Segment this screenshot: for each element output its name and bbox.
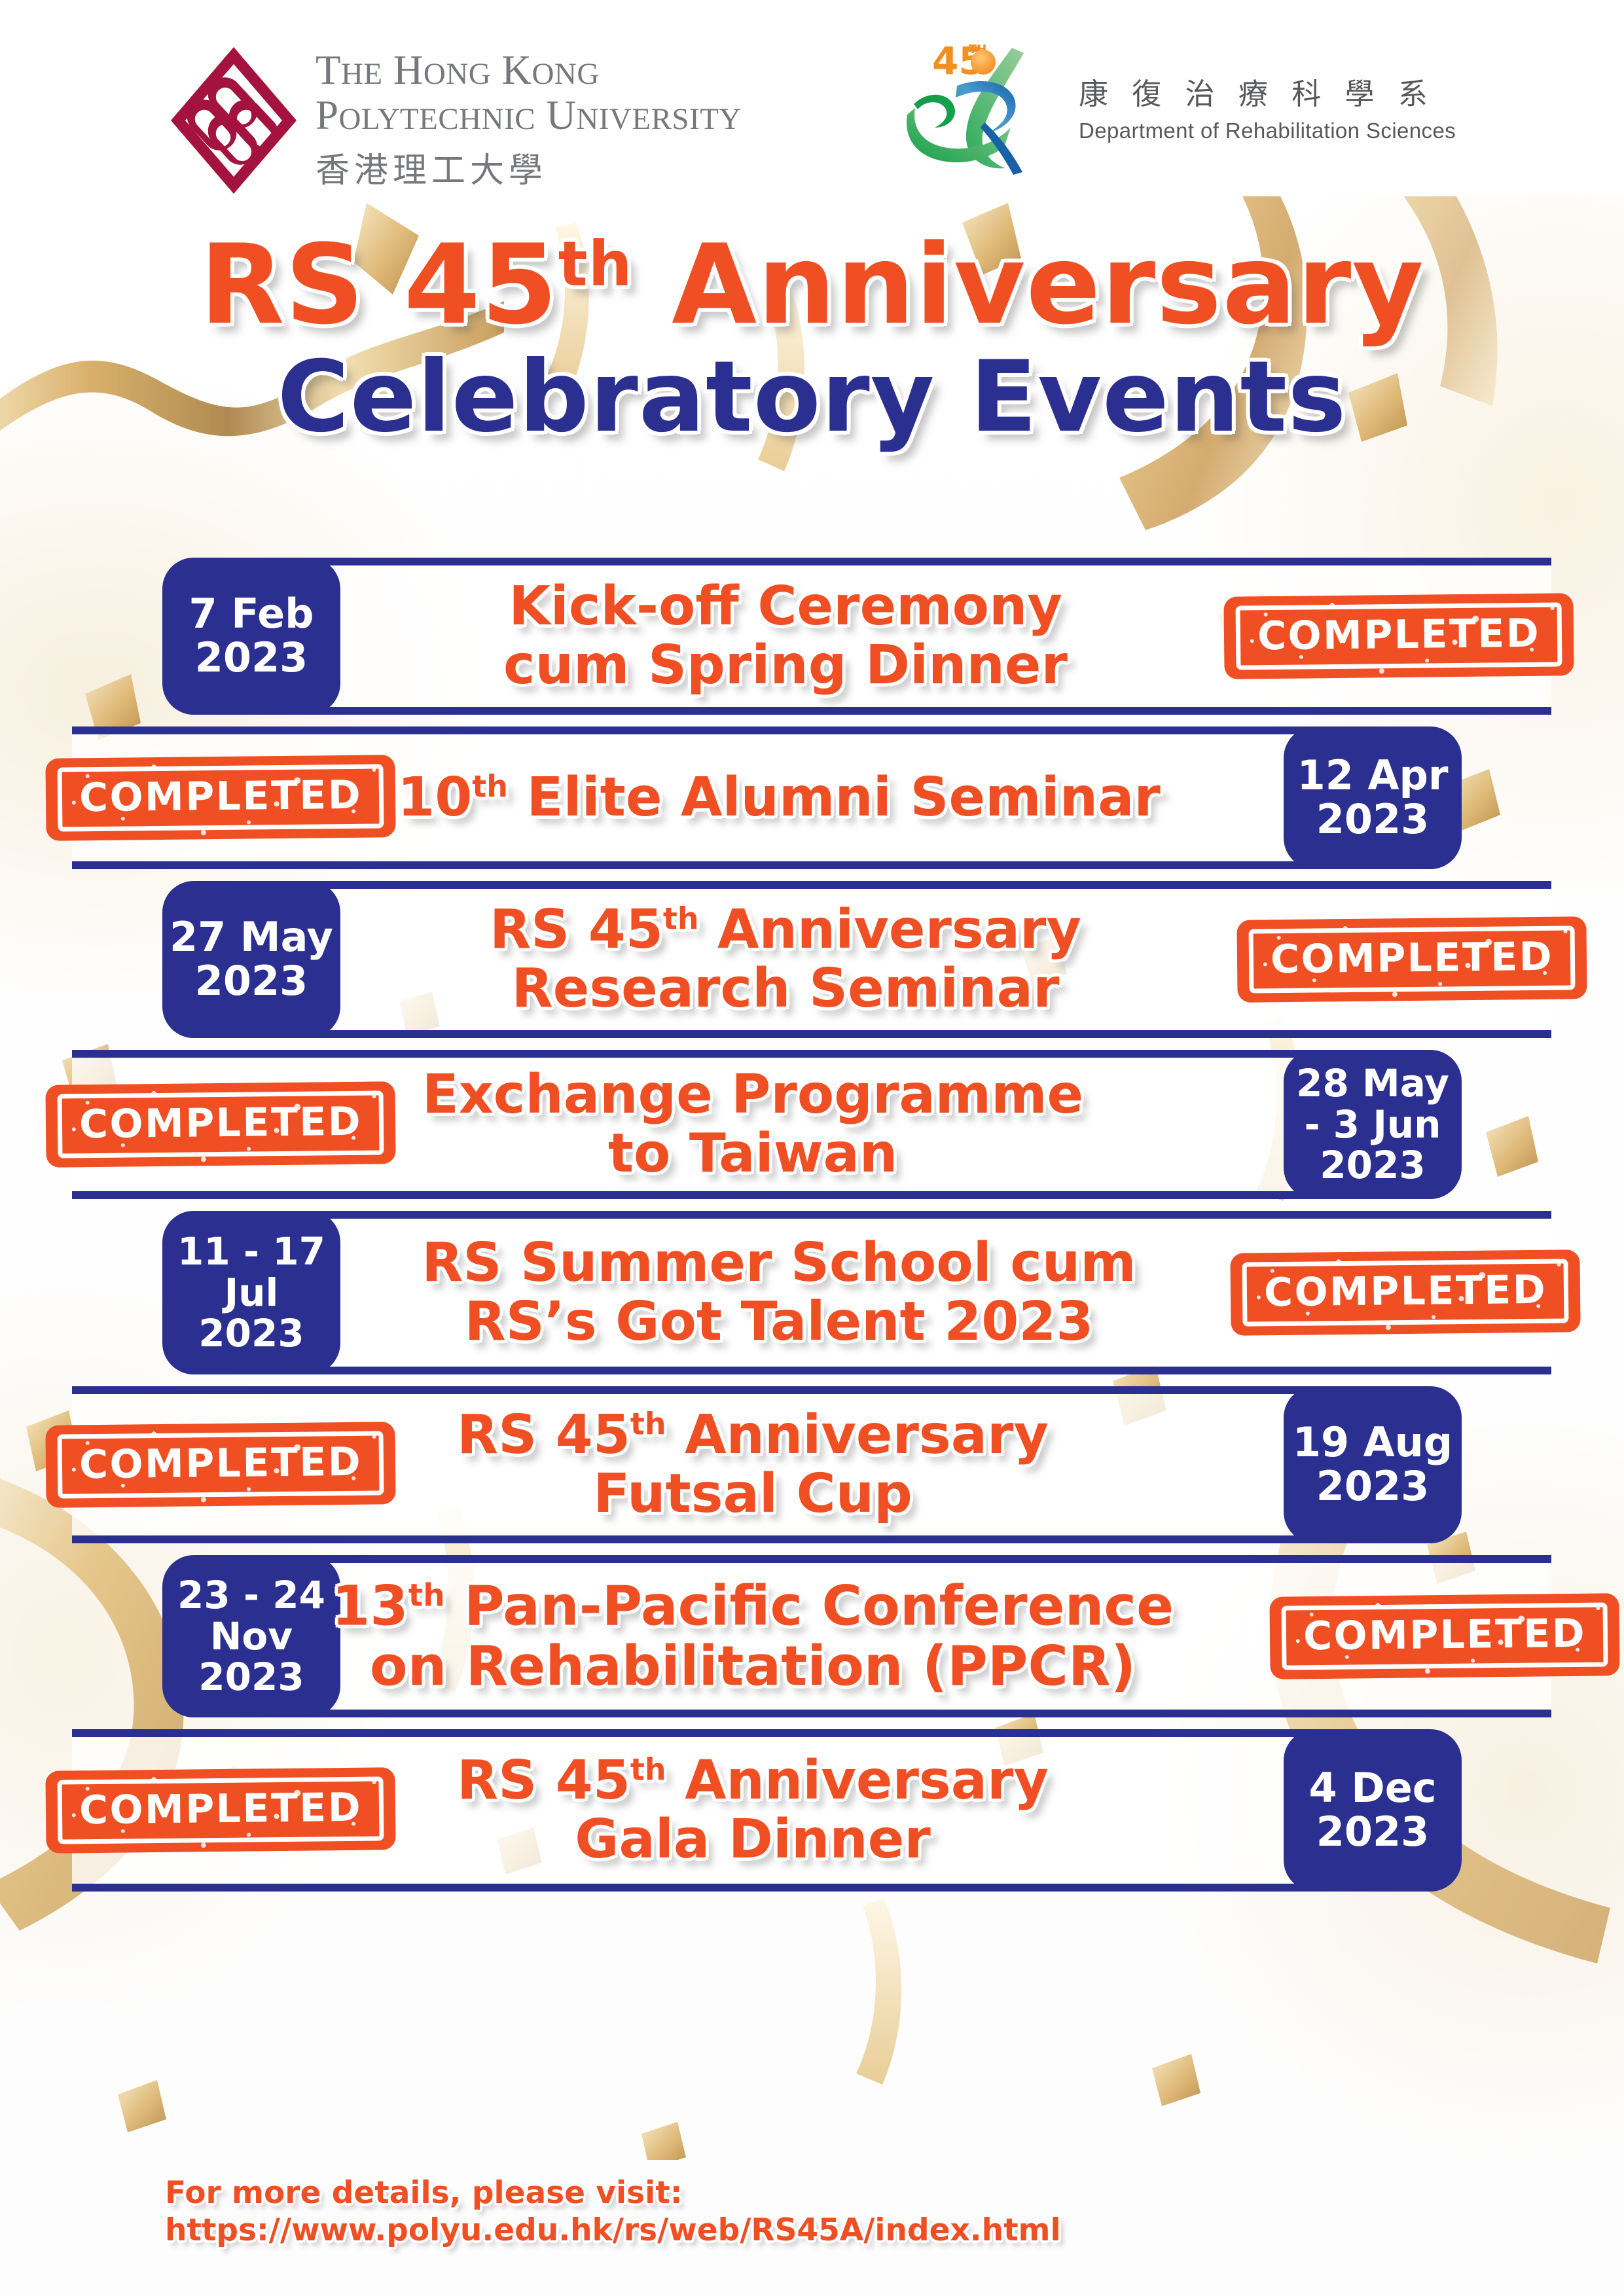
status-badge-completed: COMPLETED	[45, 1081, 395, 1168]
status-label: COMPLETED	[1257, 614, 1541, 656]
event-date-line: 4 Dec	[1309, 1767, 1437, 1810]
event-title-line: RS 45th Anniversary	[327, 1751, 1178, 1810]
title-text: Pan-Pacific Conference	[445, 1574, 1174, 1638]
ordinal-superscript: th	[630, 1751, 666, 1787]
status-badge-completed: COMPLETED	[45, 1422, 395, 1508]
stamp-border: COMPLETED	[1242, 1259, 1569, 1326]
event-date-line: 27 May	[170, 916, 333, 960]
event-date-line: 2023	[1316, 798, 1430, 842]
status-badge-completed: COMPLETED	[1230, 1249, 1580, 1336]
event-title: RS 45th AnniversaryResearch Seminar	[367, 901, 1204, 1018]
timeline-event-row: 28 May- 3 Jun2023Exchange Programmeto Ta…	[0, 1050, 1624, 1199]
header-bar: THE HONG KONG POLYTECHNIC UNIVERSITY 香港理…	[0, 0, 1624, 196]
event-date-badge: 4 Dec2023	[1284, 1729, 1462, 1892]
event-title: Kick-off Ceremonycum Spring Dinner	[367, 577, 1204, 695]
event-date-badge: 28 May- 3 Jun2023	[1284, 1050, 1462, 1199]
event-title-line: RS’s Got Talent 2023	[367, 1293, 1191, 1352]
title-text: Research Seminar	[512, 958, 1060, 1020]
department-name: 康 復 治 療 科 學 系 Department of Rehabilitati…	[1079, 70, 1456, 143]
rs-45th-emblem-icon: 45 TH	[889, 36, 1067, 177]
title-text: RS Summer School cum	[422, 1232, 1136, 1294]
title-text: RS 45	[490, 899, 663, 961]
status-label: COMPLETED	[79, 1788, 363, 1831]
polyu-name-line1: THE HONG KONG	[316, 50, 742, 91]
title-text: Elite Alumni Seminar	[508, 766, 1161, 829]
stamp-border: COMPLETED	[58, 1431, 384, 1498]
event-date-line: 2023	[195, 636, 308, 680]
event-date-line: - 3 Jun	[1305, 1104, 1441, 1145]
polyu-name-line2: POLYTECHNIC UNIVERSITY	[316, 95, 742, 136]
event-date-line: 2023	[198, 1313, 304, 1354]
footer-prompt: For more details, please visit:	[165, 2174, 1061, 2212]
status-label: COMPLETED	[1264, 1270, 1547, 1313]
stamp-border: COMPLETED	[58, 1090, 384, 1158]
event-date-badge: 7 Feb2023	[162, 558, 340, 715]
event-title: RS 45th AnniversaryGala Dinner	[327, 1751, 1178, 1869]
ordinal-superscript: th	[663, 901, 699, 936]
event-title-line: RS 45th Anniversary	[327, 1406, 1178, 1465]
title-line-1: RS 45th Anniversary	[0, 228, 1624, 342]
event-title: 13th Pan-Pacific Conferenceon Rehabilita…	[288, 1576, 1218, 1697]
title-line-1-superscript: th	[558, 229, 633, 300]
title-text: to Taiwan	[608, 1122, 897, 1185]
stamp-border: COMPLETED	[58, 764, 384, 831]
event-title-line: RS 45th Anniversary	[367, 901, 1204, 960]
timeline-event-row: 19 Aug2023RS 45th AnniversaryFutsal CupC…	[0, 1386, 1624, 1543]
event-title-line: RS Summer School cum	[367, 1234, 1191, 1293]
title-line-1-prefix: RS 45	[200, 221, 558, 349]
page-title: RS 45th Anniversary Celebratory Events	[0, 228, 1624, 448]
event-date-line: 19 Aug	[1293, 1421, 1453, 1465]
event-date-line: Jul	[225, 1272, 279, 1314]
footer-info: For more details, please visit: https://…	[165, 2174, 1061, 2250]
stamp-border: COMPLETED	[1236, 602, 1562, 670]
polyu-logo: THE HONG KONG POLYTECHNIC UNIVERSITY 香港理…	[167, 45, 742, 196]
ordinal-superscript: th	[630, 1406, 666, 1441]
stamp-border: COMPLETED	[58, 1776, 384, 1844]
event-title-line: cum Spring Dinner	[367, 636, 1204, 695]
title-line-2: Celebratory Events	[0, 346, 1624, 448]
event-date-badge: 27 May2023	[162, 881, 340, 1038]
event-title-line: Research Seminar	[367, 960, 1204, 1018]
event-title: RS Summer School cumRS’s Got Talent 2023	[367, 1234, 1191, 1352]
department-logo: 45 TH 康 復 治 療 科 學 系 Department of Rehabi…	[889, 36, 1456, 177]
event-title-line: to Taiwan	[327, 1124, 1178, 1183]
title-text: cum Spring Dinner	[503, 634, 1068, 696]
event-title: RS 45th AnniversaryFutsal Cup	[327, 1406, 1178, 1524]
title-text: on Rehabilitation (PPCR)	[370, 1634, 1136, 1698]
title-text: Exchange Programme	[422, 1064, 1083, 1126]
status-label: COMPLETED	[79, 776, 363, 818]
title-text: RS 45	[457, 1404, 630, 1466]
timeline-event-row: 27 May2023RS 45th AnniversaryResearch Se…	[0, 881, 1624, 1038]
event-date-line: 2023	[1316, 1465, 1430, 1509]
event-date-line: Nov	[210, 1616, 293, 1657]
title-text: Futsal Cup	[593, 1463, 912, 1525]
event-date-badge: 12 Apr2023	[1284, 726, 1462, 869]
event-date-line: 12 Apr	[1297, 754, 1449, 798]
event-date-badge: 19 Aug2023	[1284, 1386, 1462, 1543]
polyu-name-chinese: 香港理工大學	[316, 143, 742, 192]
event-date-badge: 11 - 17Jul2023	[162, 1211, 340, 1374]
title-text: Gala Dinner	[575, 1808, 931, 1871]
event-title-line: Kick-off Ceremony	[367, 577, 1204, 636]
timeline-event-row: 11 - 17Jul2023RS Summer School cumRS’s G…	[0, 1211, 1624, 1374]
status-badge-completed: COMPLETED	[1223, 593, 1574, 679]
title-text: RS’s Got Talent 2023	[465, 1291, 1094, 1353]
event-date-line: 7 Feb	[189, 592, 314, 636]
event-title-line: 13th Pan-Pacific Conference	[288, 1576, 1218, 1636]
timeline-event-row: 12 Apr202310th Elite Alumni SeminarCOMPL…	[0, 726, 1624, 869]
event-title-line: on Rehabilitation (PPCR)	[288, 1636, 1218, 1696]
status-badge-completed: COMPLETED	[45, 755, 395, 841]
status-label: COMPLETED	[1271, 937, 1554, 980]
status-badge-completed: COMPLETED	[1236, 916, 1587, 1003]
polyu-wordmark: THE HONG KONG POLYTECHNIC UNIVERSITY 香港理…	[316, 50, 742, 192]
event-date-line: 2023	[1316, 1810, 1430, 1854]
title-text: 13	[332, 1574, 408, 1638]
stamp-border: COMPLETED	[1249, 925, 1576, 993]
department-name-chinese: 康 復 治 療 科 學 系	[1079, 70, 1456, 113]
events-timeline: 7 Feb2023Kick-off Ceremonycum Spring Din…	[0, 551, 1624, 2122]
status-badge-completed: COMPLETED	[1269, 1593, 1619, 1679]
status-label: COMPLETED	[79, 1102, 363, 1145]
event-date-line: 2023	[195, 960, 308, 1003]
event-title: 10th Elite Alumni Seminar	[353, 768, 1204, 827]
ordinal-superscript: th	[472, 769, 508, 804]
event-date-line: 28 May	[1296, 1063, 1449, 1104]
event-date-line: 11 - 17	[177, 1231, 325, 1272]
event-date-line: 2023	[1320, 1145, 1425, 1186]
status-label: COMPLETED	[79, 1443, 363, 1485]
department-name-english: Department of Rehabilitation Sciences	[1079, 118, 1456, 143]
title-text: Anniversary	[666, 1749, 1049, 1812]
event-title: Exchange Programmeto Taiwan	[327, 1066, 1178, 1183]
event-title-line: 10th Elite Alumni Seminar	[353, 768, 1204, 827]
status-badge-completed: COMPLETED	[45, 1767, 395, 1854]
timeline-event-row: 7 Feb2023Kick-off Ceremonycum Spring Din…	[0, 558, 1624, 715]
poster-canvas: THE HONG KONG POLYTECHNIC UNIVERSITY 香港理…	[0, 0, 1624, 2296]
title-text: RS 45	[457, 1749, 630, 1812]
title-text: Kick-off Ceremony	[509, 575, 1062, 637]
status-label: COMPLETED	[1303, 1614, 1587, 1657]
event-title-line: Gala Dinner	[327, 1810, 1178, 1869]
title-text: Anniversary	[699, 899, 1081, 961]
timeline-event-row: 23 - 24Nov202313th Pan-Pacific Conferenc…	[0, 1555, 1624, 1717]
title-line-1-suffix: Anniversary	[633, 221, 1424, 349]
polyu-emblem-icon	[167, 45, 301, 196]
footer-url[interactable]: https://www.polyu.edu.hk/rs/web/RS45A/in…	[165, 2212, 1061, 2249]
timeline-event-row: 4 Dec2023RS 45th AnniversaryGala DinnerC…	[0, 1729, 1624, 1892]
stamp-border: COMPLETED	[1282, 1602, 1608, 1670]
event-title-line: Futsal Cup	[327, 1465, 1178, 1524]
event-title-line: Exchange Programme	[327, 1066, 1178, 1124]
ordinal-superscript: th	[408, 1578, 445, 1614]
title-text: Anniversary	[666, 1404, 1049, 1466]
title-text: 10	[397, 766, 472, 829]
